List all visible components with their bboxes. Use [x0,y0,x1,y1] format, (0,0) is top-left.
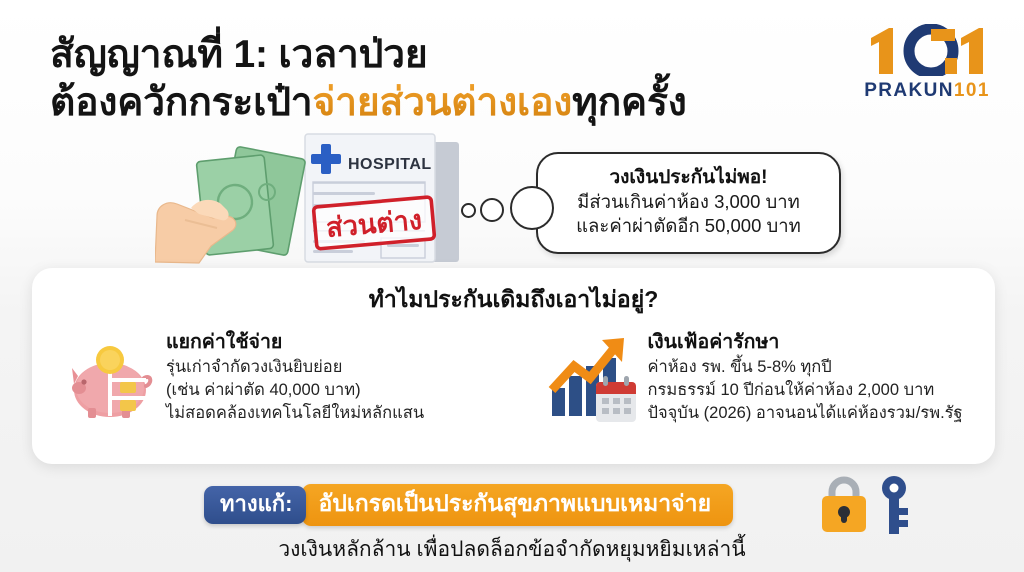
page-title: สัญญาณที่ 1: เวลาป่วย ต้องควักกระเป๋าจ่า… [50,32,810,126]
reason-2-line-1: ค่าห้อง รพ. ขึ้น 5-8% ทุกปี [648,356,963,379]
reason-column-1-text: แยกค่าใช้จ่าย รุ่นเก่าจำกัดวงเงินยิบย่อย… [162,328,424,425]
reason-column-2: เงินเฟ้อค่ารักษา ค่าห้อง รพ. ขึ้น 5-8% ท… [514,328,996,432]
logo-mark-101-icon [852,24,1002,76]
logo-wordmark-text: PRAKUN [864,80,954,101]
bubble-tail-dot-medium [480,198,504,222]
callout-line-1: วงเงินประกันไม่พอ! [554,166,823,190]
solution-banner-text: อัปเกรดเป็นประกันสุขภาพแบบเหมาจ่าย [302,484,733,525]
reason-2-line-2: กรมธรรม์ 10 ปีก่อนให้ค่าห้อง 2,000 บาท [648,379,963,402]
solution-banner: ทางแก้: อัปเกรดเป็นประกันสุขภาพแบบเหมาจ่… [204,484,733,526]
lock-and-key-icons [818,474,923,536]
reason-column-1: แยกค่าใช้จ่าย รุ่นเก่าจำกัดวงเงินยิบย่อย… [32,328,514,432]
reason-1-line-2: (เช่น ค่าผ่าตัด 40,000 บาท) [166,379,424,402]
piggy-bank-icon [58,328,162,432]
title-line-2-part1: ต้องควักกระเป๋า [50,81,313,124]
reason-1-line-1: รุ่นเก่าจำกัดวงเงินยิบย่อย [166,356,424,379]
reason-1-heading: แยกค่าใช้จ่าย [166,330,424,354]
brand-logo: PRAKUN101 [852,24,1002,102]
insurance-shortfall-callout: วงเงินประกันไม่พอ! มีส่วนเกินค่าห้อง 3,0… [536,152,841,254]
logo-wordmark-number: 101 [954,80,990,101]
callout-line-3: และค่าผ่าตัดอีก 50,000 บาท [554,214,823,238]
bill-heading-text: HOSPITAL [348,156,432,173]
growth-chart-calendar-icon [540,328,644,432]
reason-2-heading: เงินเฟ้อค่ารักษา [648,330,963,354]
callout-line-2: มีส่วนเกินค่าห้อง 3,000 บาท [554,190,823,214]
hand-money-hospital-bill-illustration: HOSPITAL [155,130,475,265]
key-icon [882,476,908,534]
infographic-canvas: สัญญาณที่ 1: เวลาป่วย ต้องควักกระเป๋าจ่า… [0,0,1024,572]
bubble-tail-dot-large [510,186,554,230]
difference-stamp: ส่วนต่าง [313,197,434,249]
title-line-2-highlight: จ่ายส่วนต่างเอง [313,81,573,124]
solution-label-pill: ทางแก้: [204,486,306,524]
padlock-icon [822,480,866,532]
reasons-card: ทำไมประกันเดิมถึงเอาไม่อยู่? [32,268,995,464]
title-line-1: สัญญาณที่ 1: เวลาป่วย [50,32,810,78]
bubble-tail-dot-small [461,203,476,218]
logo-wordmark: PRAKUN101 [852,80,1002,102]
solution-subline: วงเงินหลักล้าน เพื่อปลดล็อกข้อจำกัดหยุมห… [0,533,1024,566]
reason-column-2-text: เงินเฟ้อค่ารักษา ค่าห้อง รพ. ขึ้น 5-8% ท… [644,328,963,425]
card-title: ทำไมประกันเดิมถึงเอาไม่อยู่? [32,268,995,318]
reason-1-line-3: ไม่สอดคล้องเทคโนโลยีใหม่หลักแสน [166,402,424,425]
title-line-2: ต้องควักกระเป๋าจ่ายส่วนต่างเองทุกครั้ง [50,80,810,126]
title-line-2-part3: ทุกครั้ง [572,81,686,124]
reason-2-line-3: ปัจจุบัน (2026) อาจนอนได้แค่ห้องรวม/รพ.ร… [648,402,963,425]
